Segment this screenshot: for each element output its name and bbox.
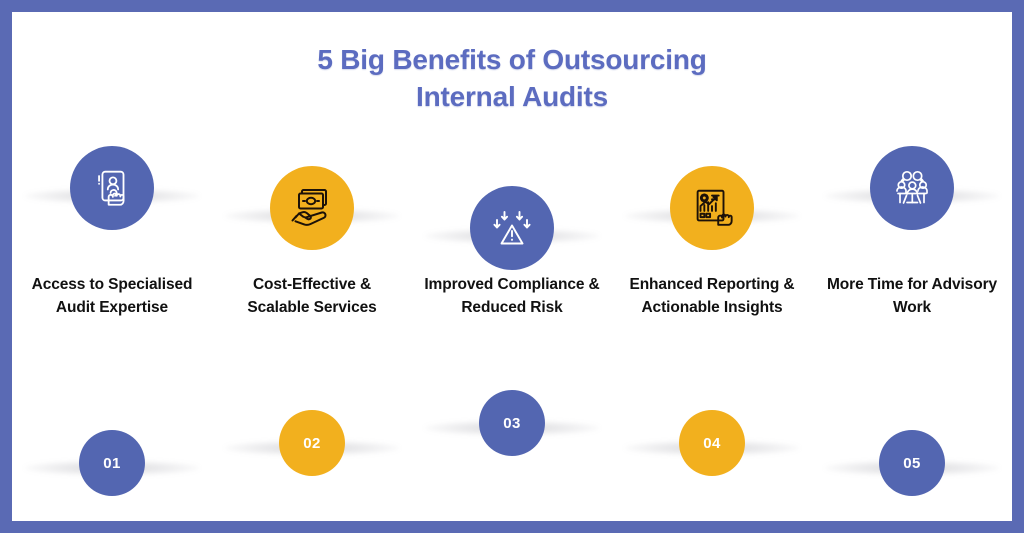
number-zone-3: 03 — [412, 382, 612, 502]
poster-canvas: 5 Big Benefits of Outsourcing Internal A… — [12, 12, 1012, 521]
benefit-label-5: More Time for Advisory Work — [820, 274, 1004, 319]
benefit-number-badge-3: 03 — [479, 390, 545, 456]
benefit-number-badge-5: 05 — [879, 430, 945, 496]
benefit-label-4: Enhanced Reporting & Actionable Insights — [620, 274, 804, 319]
benefit-column-5: More Time for Advisory Work 05 — [812, 124, 1012, 514]
benefit-label-1: Access to Specialised Audit Expertise — [20, 274, 204, 319]
title-line-2: Internal Audits — [12, 79, 1012, 116]
benefit-icon-circle-5 — [870, 146, 954, 230]
icon-zone-4 — [612, 124, 812, 279]
icon-zone-2 — [212, 124, 412, 279]
benefit-column-1: Access to Specialised Audit Expertise 01 — [12, 124, 212, 514]
number-zone-1: 01 — [12, 382, 212, 502]
benefit-icon-circle-2 — [270, 166, 354, 250]
benefit-label-2: Cost-Effective & Scalable Services — [220, 274, 404, 319]
benefit-number-1: 01 — [103, 455, 121, 472]
warning-triangle-down-arrows-icon — [488, 204, 536, 252]
meeting-group-icon — [888, 164, 936, 212]
poster-frame: 5 Big Benefits of Outsourcing Internal A… — [0, 0, 1024, 533]
icon-zone-1 — [12, 124, 212, 279]
benefit-column-2: Cost-Effective & Scalable Services 02 — [212, 124, 412, 514]
benefit-column-3: Improved Compliance & Reduced Risk 03 — [412, 124, 612, 514]
number-zone-2: 02 — [212, 382, 412, 502]
report-chart-hand-icon — [689, 185, 735, 231]
number-zone-4: 04 — [612, 382, 812, 502]
benefit-icon-circle-3 — [470, 186, 554, 270]
benefit-number-badge-4: 04 — [679, 410, 745, 476]
hand-holding-money-icon — [288, 184, 336, 232]
benefit-number-5: 05 — [903, 455, 921, 472]
benefit-column-4: Enhanced Reporting & Actionable Insights… — [612, 124, 812, 514]
benefit-number-badge-1: 01 — [79, 430, 145, 496]
page-title: 5 Big Benefits of Outsourcing Internal A… — [12, 42, 1012, 116]
icon-zone-3 — [412, 124, 612, 279]
benefit-icon-circle-4 — [670, 166, 754, 250]
benefit-label-3: Improved Compliance & Reduced Risk — [420, 274, 604, 319]
benefit-number-2: 02 — [303, 435, 321, 452]
benefit-number-4: 04 — [703, 435, 721, 452]
title-line-1: 5 Big Benefits of Outsourcing — [317, 44, 706, 75]
benefit-number-badge-2: 02 — [279, 410, 345, 476]
number-zone-5: 05 — [812, 382, 1012, 502]
benefit-columns: Access to Specialised Audit Expertise 01 — [12, 124, 1012, 514]
id-card-touch-icon — [89, 165, 135, 211]
benefit-icon-circle-1 — [70, 146, 154, 230]
icon-zone-5 — [812, 124, 1012, 279]
benefit-number-3: 03 — [503, 415, 521, 432]
